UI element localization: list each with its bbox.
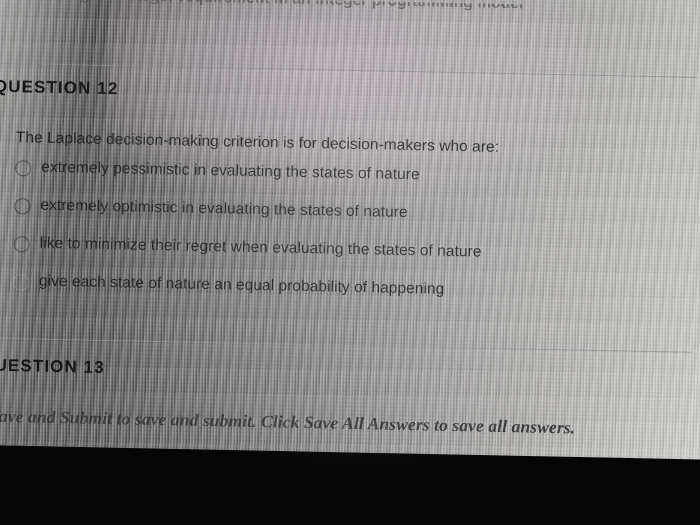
- divider-above-question-12: [0, 63, 697, 78]
- clipped-previous-answer-text: Enforcing the integer requirement in an …: [17, 0, 524, 12]
- quiz-content: Enforcing the integer requirement in an …: [0, 1, 698, 15]
- question-12-option-list: extremely pessimistic in evaluating the …: [12, 159, 675, 324]
- radio-button-icon[interactable]: [14, 198, 30, 214]
- option-label: extremely pessimistic in evaluating the …: [41, 160, 420, 184]
- question-12-prompt: The Laplace decision-making criterion is…: [16, 129, 500, 157]
- clipped-previous-answer-line: Enforcing the integer requirement in an …: [17, 0, 700, 17]
- monitor-bezel: [0, 445, 700, 525]
- question-13-heading: QUESTION 13: [0, 355, 105, 377]
- photographed-screen: Enforcing the integer requirement in an …: [0, 0, 700, 525]
- lcd-panel: Enforcing the integer requirement in an …: [0, 0, 700, 525]
- divider-above-question-13: [0, 338, 692, 353]
- radio-button-icon[interactable]: [13, 274, 29, 290]
- save-instructions-note: Click Save and Submit to save and submit…: [0, 405, 700, 441]
- question-12-heading: QUESTION 12: [0, 77, 119, 99]
- radio-button-icon[interactable]: [14, 236, 30, 252]
- radio-button-icon[interactable]: [15, 160, 31, 176]
